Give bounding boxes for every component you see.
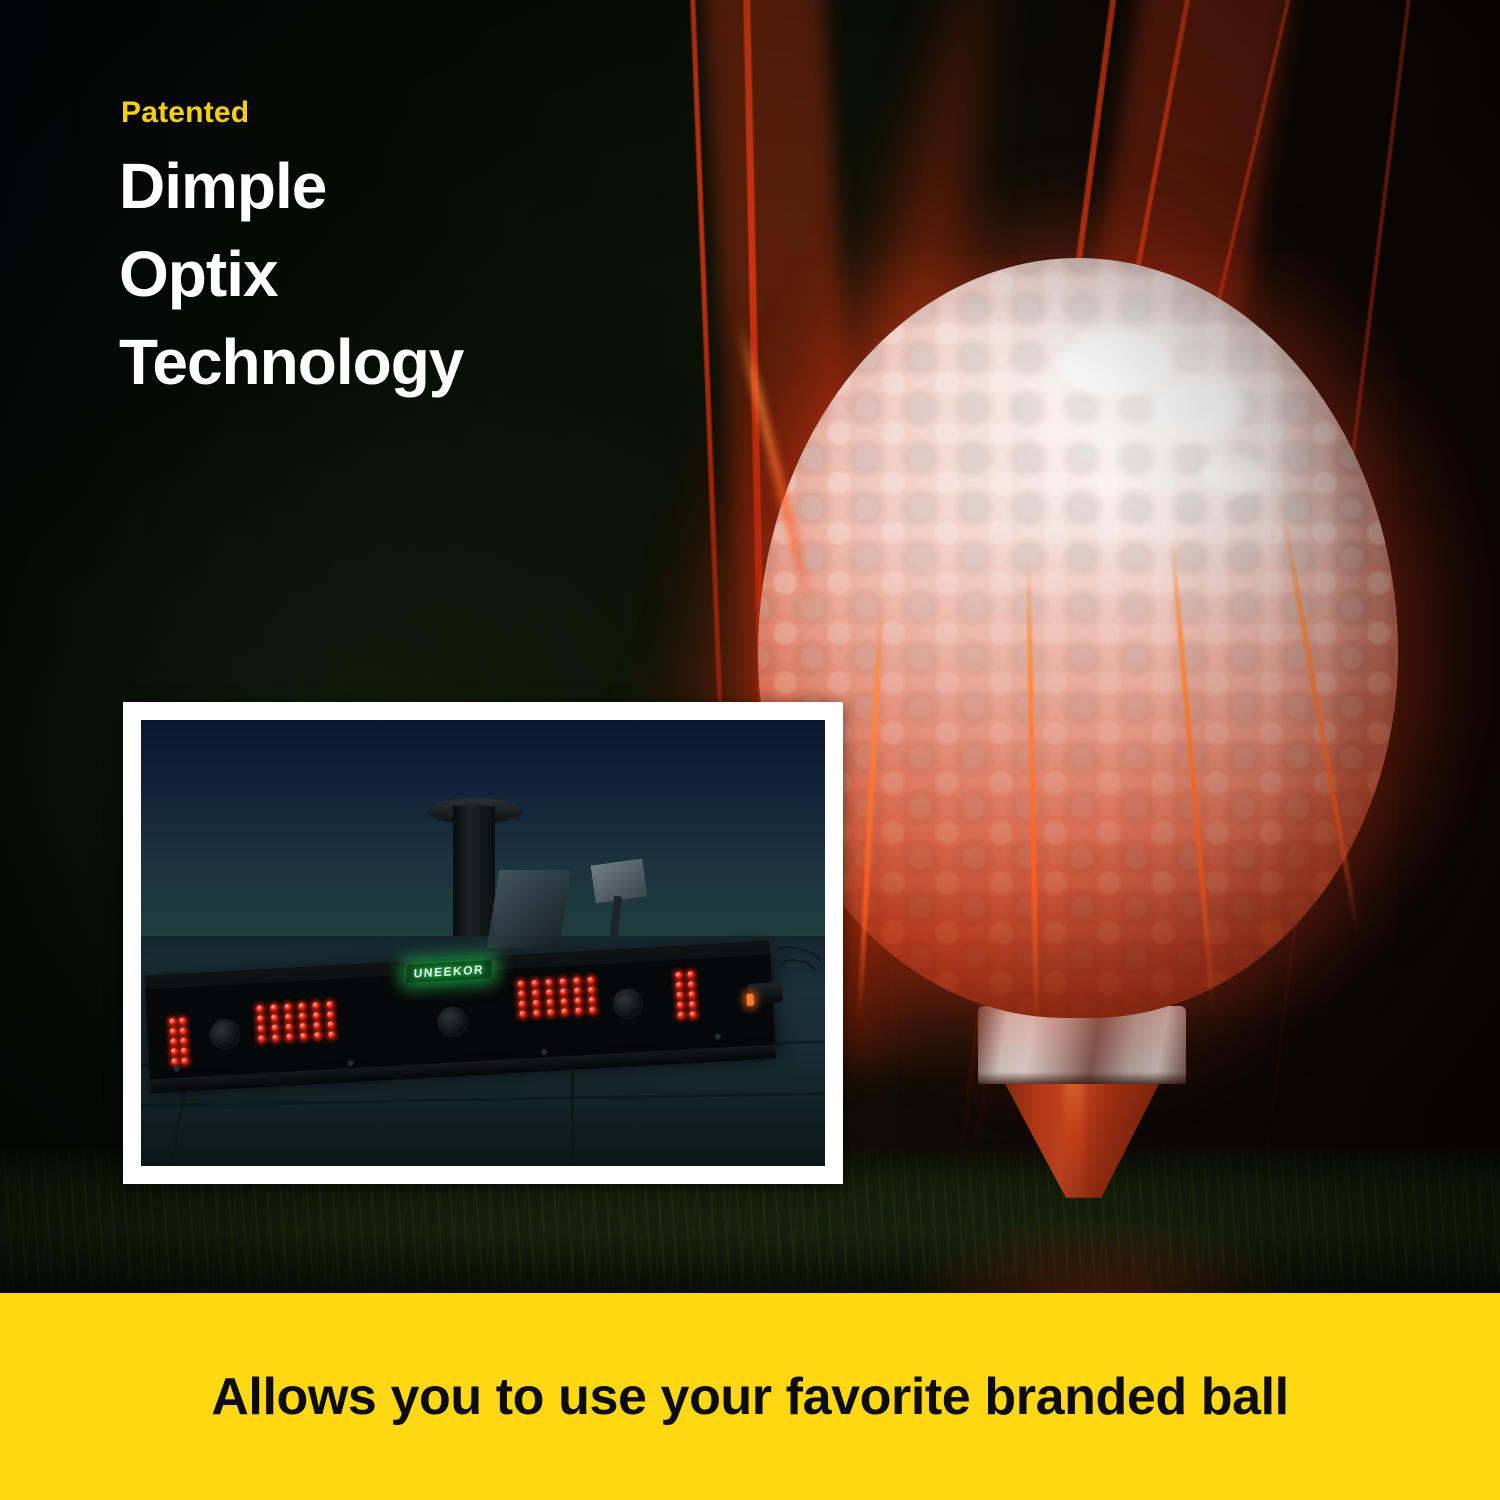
led — [327, 1021, 334, 1028]
inset-photo-frame: UNEEKOR — [123, 702, 843, 1184]
led — [171, 1058, 178, 1065]
ceiling-mount-pole-icon — [453, 806, 495, 936]
led — [285, 1023, 292, 1030]
led — [271, 1014, 278, 1021]
led — [326, 1001, 333, 1008]
led — [574, 987, 581, 994]
led — [170, 1038, 177, 1045]
led — [688, 981, 695, 988]
led — [587, 976, 594, 983]
led — [169, 1028, 176, 1035]
led — [180, 1047, 187, 1054]
led — [312, 1002, 319, 1009]
led — [677, 1001, 684, 1008]
led — [588, 986, 595, 993]
led — [314, 1032, 321, 1039]
device-screw-1 — [174, 1066, 180, 1072]
led — [689, 1001, 696, 1008]
led — [299, 1023, 306, 1030]
led — [546, 989, 553, 996]
led — [256, 1005, 263, 1012]
led — [328, 1031, 335, 1038]
led — [519, 1010, 526, 1017]
led — [532, 1000, 539, 1007]
led — [560, 998, 567, 1005]
led — [258, 1035, 265, 1042]
led — [313, 1012, 320, 1019]
page-title-line-3: Technology — [119, 318, 463, 406]
led — [272, 1034, 279, 1041]
led — [179, 1017, 186, 1024]
led-array-left-grid — [256, 1001, 339, 1042]
bottom-banner: Allows you to use your favorite branded … — [0, 1293, 1500, 1500]
hero-photo: UNEEKOR — [0, 0, 1500, 1293]
product-feature-card: UNEEKOR — [0, 0, 1500, 1500]
led — [546, 999, 553, 1006]
led — [676, 982, 683, 989]
led — [689, 1011, 696, 1018]
led — [257, 1015, 264, 1022]
led — [299, 1013, 306, 1020]
led — [676, 992, 683, 999]
eyebrow-label: Patented — [121, 96, 249, 130]
led — [286, 1033, 293, 1040]
device-screw-2 — [347, 1060, 353, 1066]
led — [285, 1013, 292, 1020]
led — [327, 1011, 334, 1018]
led — [547, 1009, 554, 1016]
led — [271, 1024, 278, 1031]
led — [688, 991, 695, 998]
led — [545, 979, 552, 986]
led — [573, 977, 580, 984]
led-array-left-strip — [169, 1017, 189, 1065]
led — [169, 1018, 176, 1025]
led — [313, 1022, 320, 1029]
led — [575, 1007, 582, 1014]
led — [675, 972, 682, 979]
page-title-line-1: Dimple — [119, 142, 463, 230]
led — [270, 1004, 277, 1011]
led — [181, 1057, 188, 1064]
led — [257, 1025, 264, 1032]
page-title: Dimple Optix Technology — [119, 142, 463, 406]
led — [589, 1006, 596, 1013]
led — [532, 990, 539, 997]
led — [518, 990, 525, 997]
led — [561, 1008, 568, 1015]
banner-caption: Allows you to use your favorite branded … — [0, 1293, 1500, 1500]
led — [559, 978, 566, 985]
led — [179, 1027, 186, 1034]
led — [171, 1048, 178, 1055]
page-title-line-2: Optix — [119, 230, 463, 318]
led — [574, 997, 581, 1004]
led — [677, 1011, 684, 1018]
device-screw-3 — [541, 1049, 547, 1055]
led — [533, 1010, 540, 1017]
led — [180, 1037, 187, 1044]
led — [518, 1000, 525, 1007]
led — [284, 1003, 291, 1010]
led — [300, 1033, 307, 1040]
led-array-right-strip — [675, 971, 699, 1019]
device-status-led — [746, 994, 754, 1006]
led — [298, 1003, 305, 1010]
led — [531, 980, 538, 987]
led — [560, 988, 567, 995]
led — [517, 980, 524, 987]
led — [687, 971, 694, 978]
inset-wall-plate — [487, 870, 571, 948]
led — [588, 996, 595, 1003]
inset-photo: UNEEKOR — [141, 720, 825, 1166]
led-array-right-grid — [517, 976, 600, 1017]
